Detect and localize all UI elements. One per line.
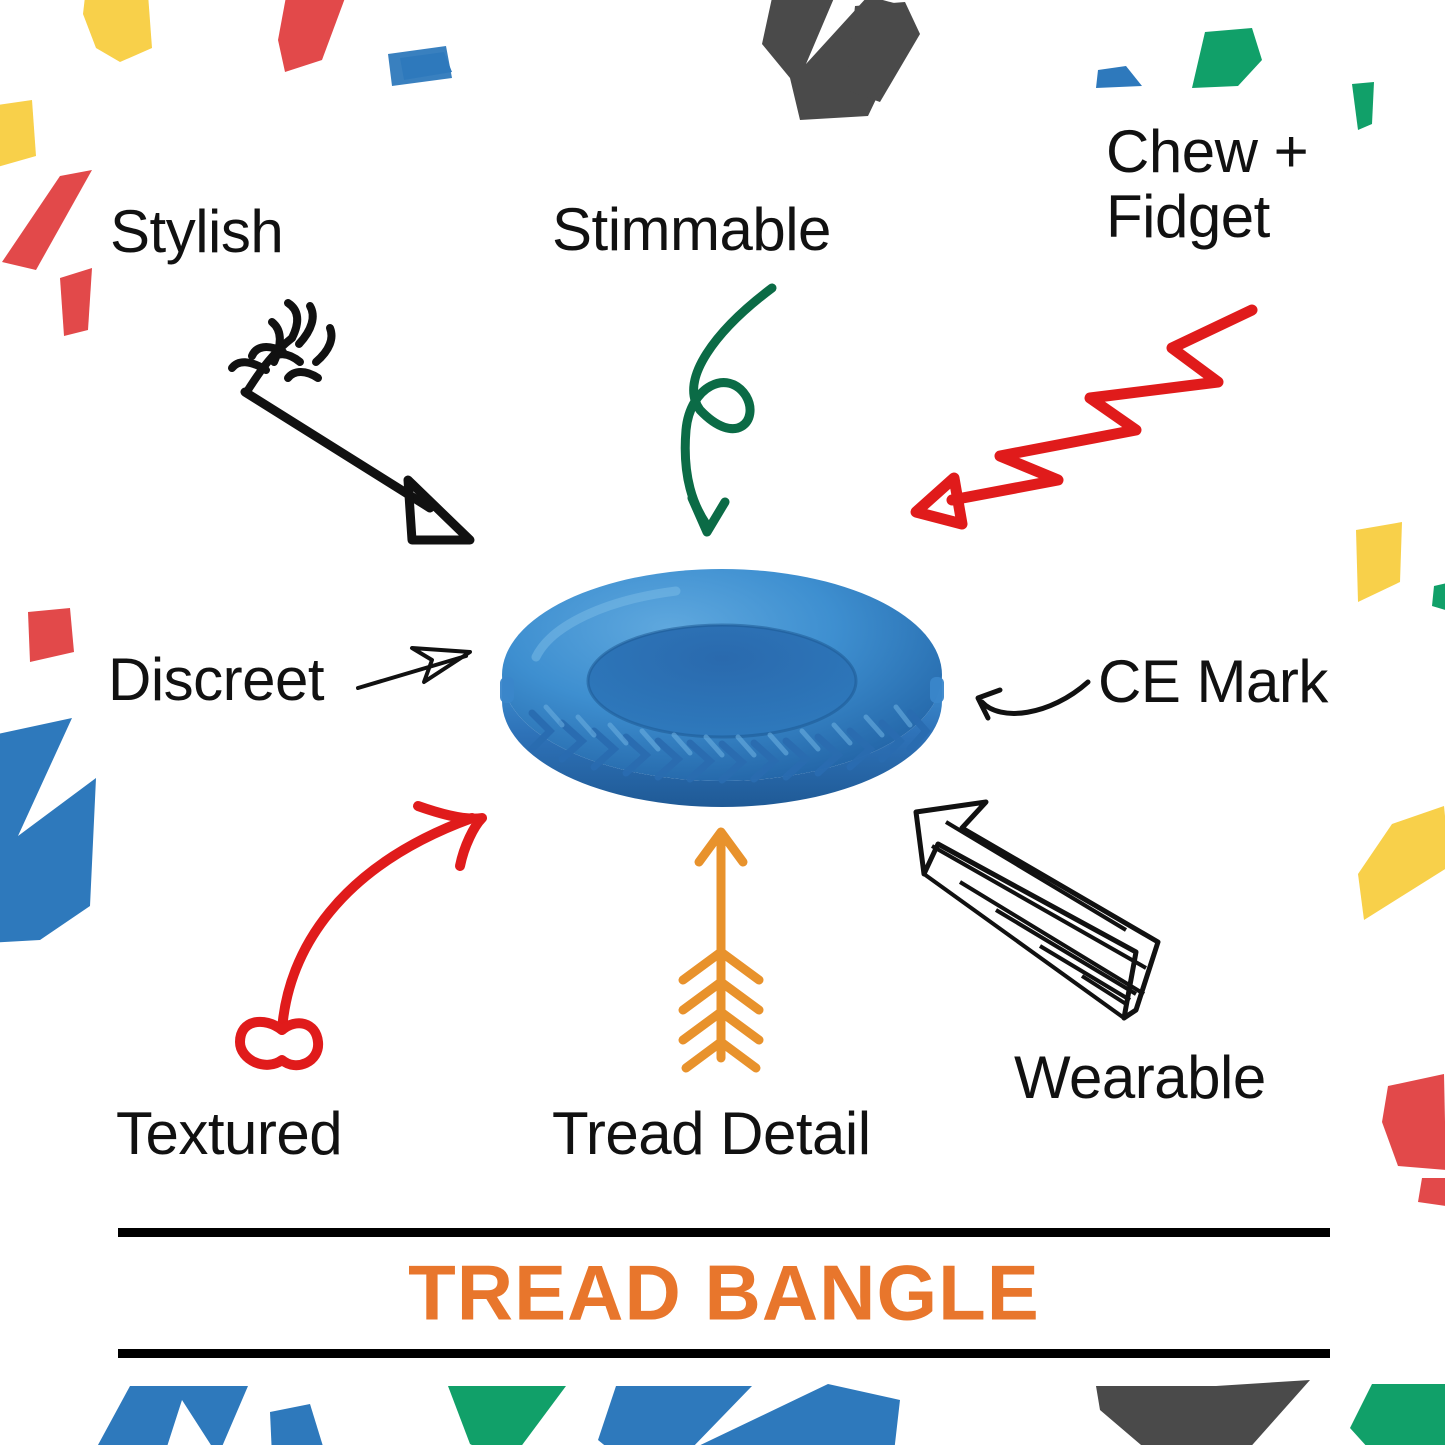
confetti-green-shape [1352,82,1374,130]
feature-label-chew-fidget: Chew + Fidget [1106,120,1308,250]
feature-label-stylish: Stylish [110,200,283,265]
confetti-yellow-shape [1358,806,1445,920]
confetti-blue-shape [270,1404,326,1445]
footer-rule-top [118,1228,1330,1237]
confetti-blue-shape [1096,66,1142,88]
confetti-blue-shape [388,46,452,86]
feature-label-discreet: Discreet [108,648,324,713]
green-loop-arrow [685,288,772,532]
confetti-blue-shape [598,1384,900,1445]
confetti-red-shape [28,608,74,662]
confetti-blue-shape [0,718,96,944]
curved-hook-arrow [978,682,1088,718]
red-zigzag-arrow [916,310,1252,524]
confetti-red-shape [2,170,92,270]
infographic-canvas: Stylish Stimmable Chew + Fidget Discreet… [0,0,1445,1445]
footer-banner: TREAD BANGLE [118,1228,1330,1358]
black-feathered-arrow [232,303,470,540]
confetti-yellow-shape [83,0,152,62]
confetti-green-shape [1432,582,1445,612]
confetti-red-shape [60,268,92,336]
thin-outline-arrow [358,648,470,688]
product-title: TREAD BANGLE [118,1248,1330,1339]
feature-label-textured: Textured [116,1102,342,1167]
confetti-charcoal-shape [1096,1380,1310,1445]
confetti-blue-shape [92,1386,248,1445]
feature-label-ce-mark: CE Mark [1098,650,1328,715]
hatched-3d-arrow [916,802,1158,1018]
orange-fletched-arrow [683,832,759,1068]
footer-rule-bottom [118,1349,1330,1358]
red-curved-heart-arrow [240,806,482,1065]
feature-label-stimmable: Stimmable [552,198,831,263]
feature-label-tread-detail: Tread Detail [552,1102,871,1167]
confetti-red-shape [1382,1074,1445,1170]
confetti-red-shape [1418,1178,1445,1206]
confetti-green-shape [1192,28,1262,88]
product-image [496,565,948,815]
confetti-yellow-shape [0,100,36,168]
confetti-charcoal-shape [762,0,905,120]
confetti-green-shape [1350,1384,1445,1445]
confetti-green-shape [448,1386,566,1445]
confetti-blue-shape [400,52,452,80]
confetti-yellow-shape [1356,522,1402,602]
confetti-charcoal-shape [846,2,920,102]
feature-label-wearable: Wearable [1014,1046,1266,1111]
confetti-red-shape [278,0,348,72]
